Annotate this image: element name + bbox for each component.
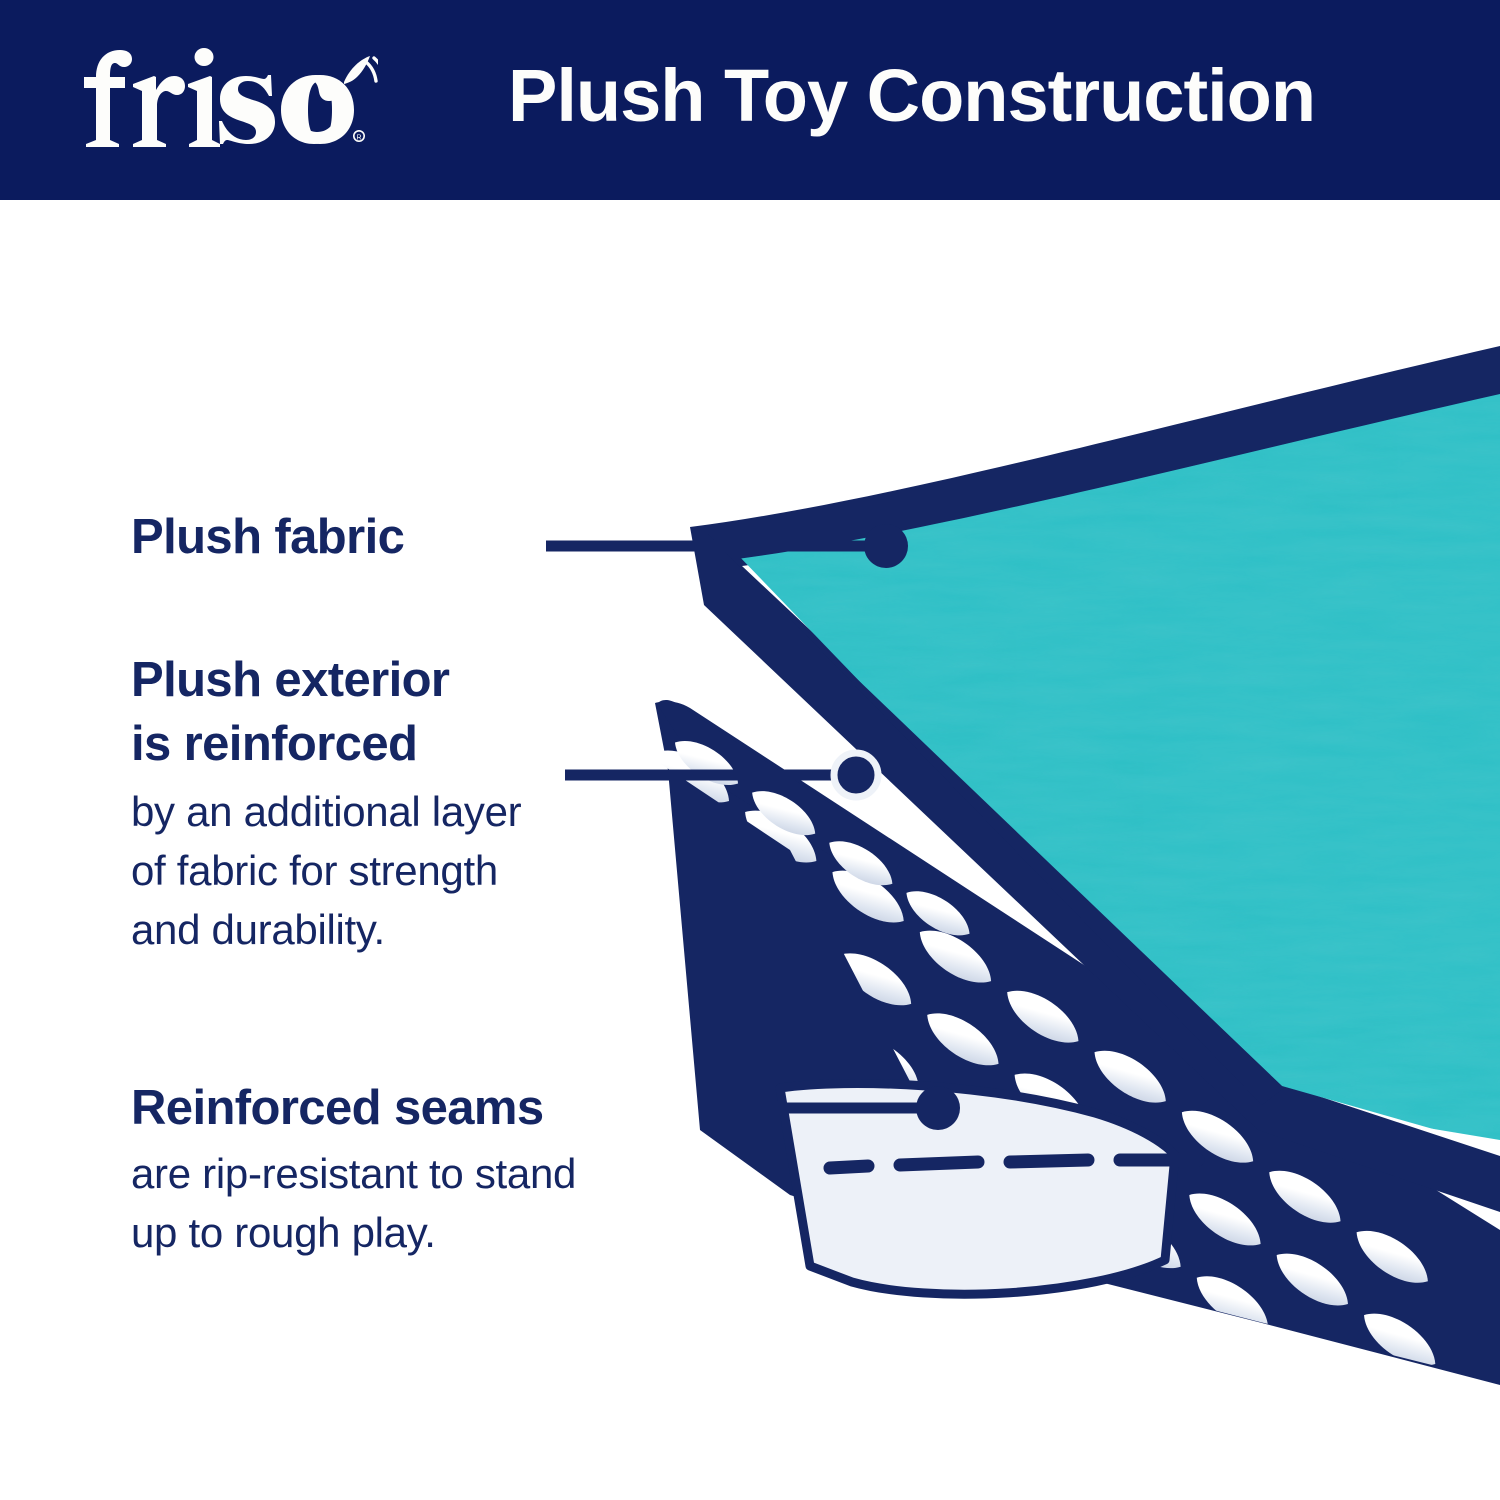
leader-dot-plush-fabric <box>864 524 908 568</box>
callout-reinforced-seams: Reinforced seams are rip-resistant to st… <box>131 1076 576 1262</box>
callout-plush-fabric: Plush fabric <box>131 505 404 569</box>
callout-body: are rip-resistant to stand up to rough p… <box>131 1144 576 1262</box>
callout-list: Plush fabric Plush exterior is reinforce… <box>0 0 760 1500</box>
leader-dot-seams <box>916 1086 960 1130</box>
leader-dot-reinforced <box>834 753 878 797</box>
callout-body: by an additional layer of fabric for str… <box>131 782 521 959</box>
callout-heading: Plush fabric <box>131 505 404 569</box>
infographic-canvas: R Plush Toy Construction <box>0 0 1500 1500</box>
callout-heading: Reinforced seams <box>131 1076 576 1140</box>
callout-heading: Plush exterior is reinforced <box>131 648 521 776</box>
callout-plush-exterior-reinforced: Plush exterior is reinforced by an addit… <box>131 648 521 959</box>
